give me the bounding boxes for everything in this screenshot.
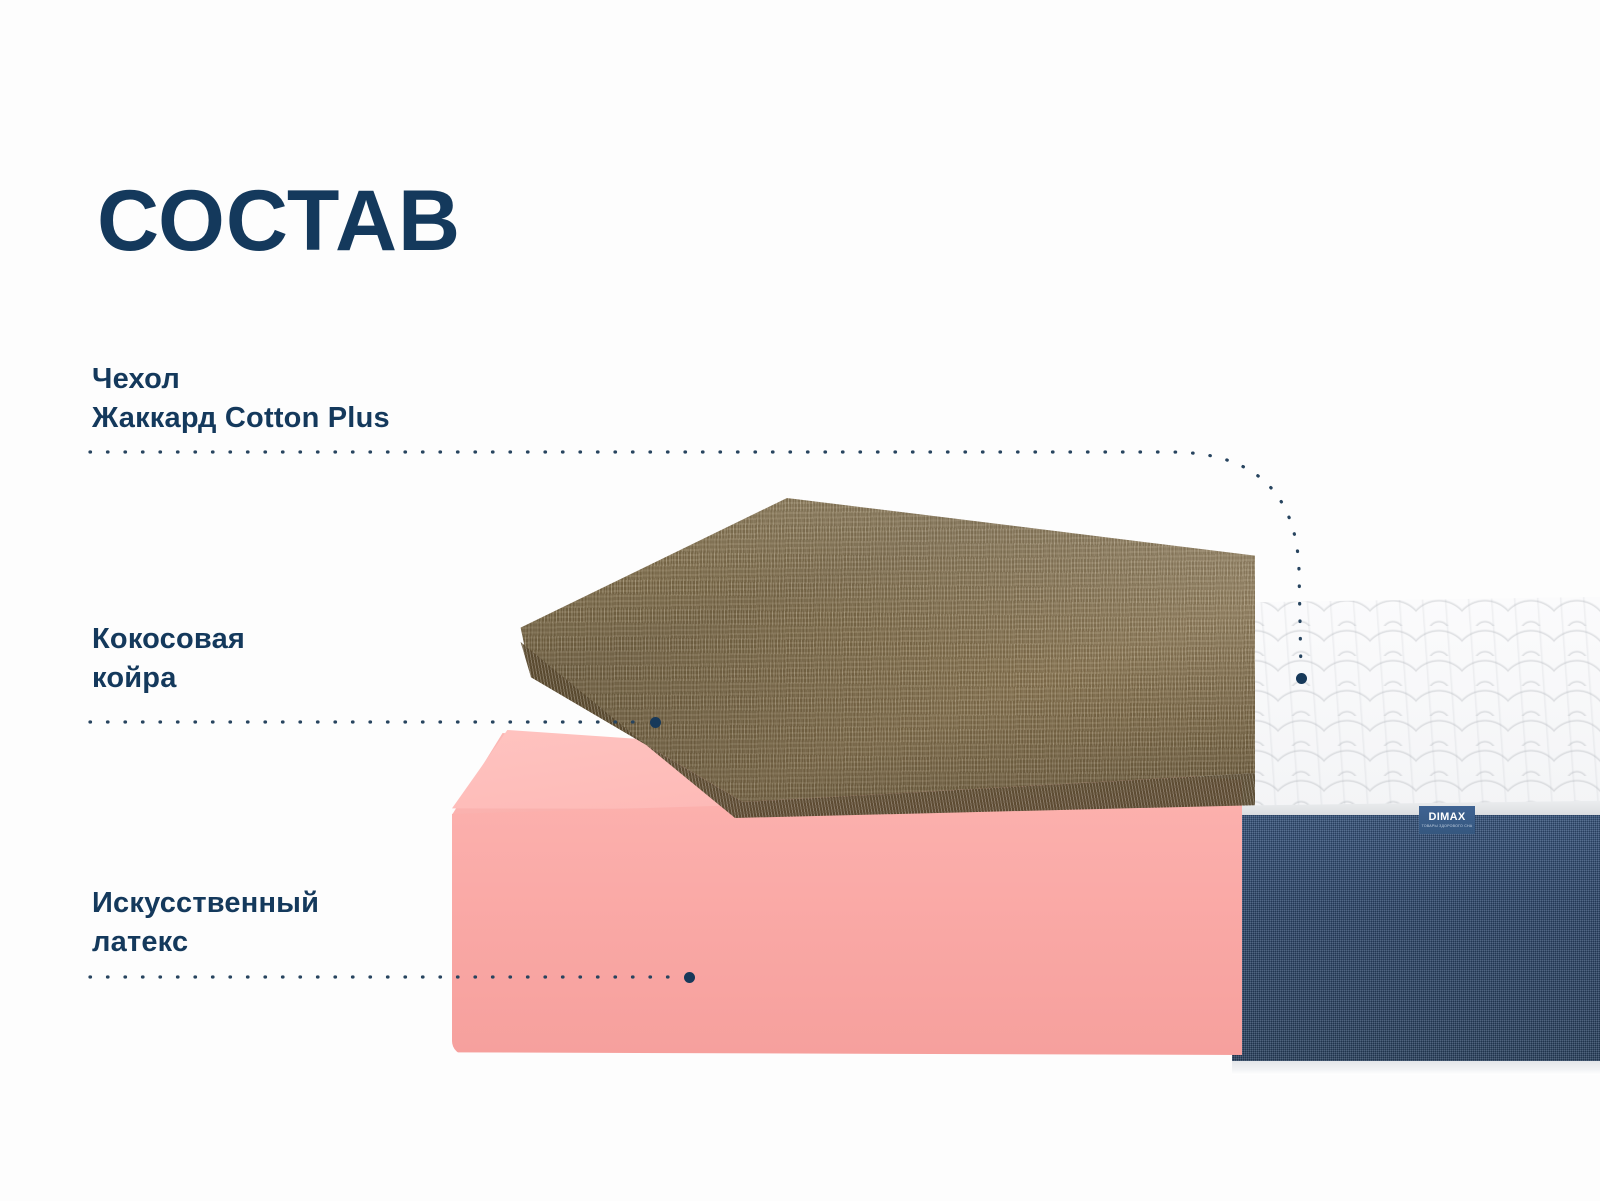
mattress-bottom-trim [1232,1061,1600,1075]
layer-label-cover-line1: Чехол [92,360,390,399]
layer-label-coir-line1: Кокосовая [92,620,245,659]
leader-endpoint-dot-cover [1296,673,1307,684]
mattress-side-panel [1232,815,1600,1065]
cover-quilted-top-surface [1232,596,1600,818]
leader-endpoint-dot-latex [684,972,695,983]
coconut-coir-sheet [455,498,1255,818]
leader-endpoint-dot-coir [650,717,661,728]
brand-tag: DIMAX ТОВАРЫ ЗДОРОВОГО СНА [1419,806,1475,834]
composition-slide: СОСТАВ DIMAX ТОВАРЫ ЗДОРОВОГО СНА [0,0,1600,1201]
brand-tagline: ТОВАРЫ ЗДОРОВОГО СНА [1422,825,1473,829]
brand-name: DIMAX [1429,812,1466,823]
layer-label-latex: Искусственный латекс [92,884,319,962]
layer-label-latex-line2: латекс [92,923,319,962]
layer-label-cover: Чехол Жаккард Cotton Plus [92,360,390,438]
page-title: СОСТАВ [97,178,461,264]
layer-label-cover-line2: Жаккард Cotton Plus [92,399,390,438]
latex-block-front-face [452,790,1242,1055]
coir-shading [455,498,1255,818]
layer-label-latex-line1: Искусственный [92,884,319,923]
layer-label-coir-line2: койра [92,659,245,698]
layer-label-coir: Кокосовая койра [92,620,245,698]
